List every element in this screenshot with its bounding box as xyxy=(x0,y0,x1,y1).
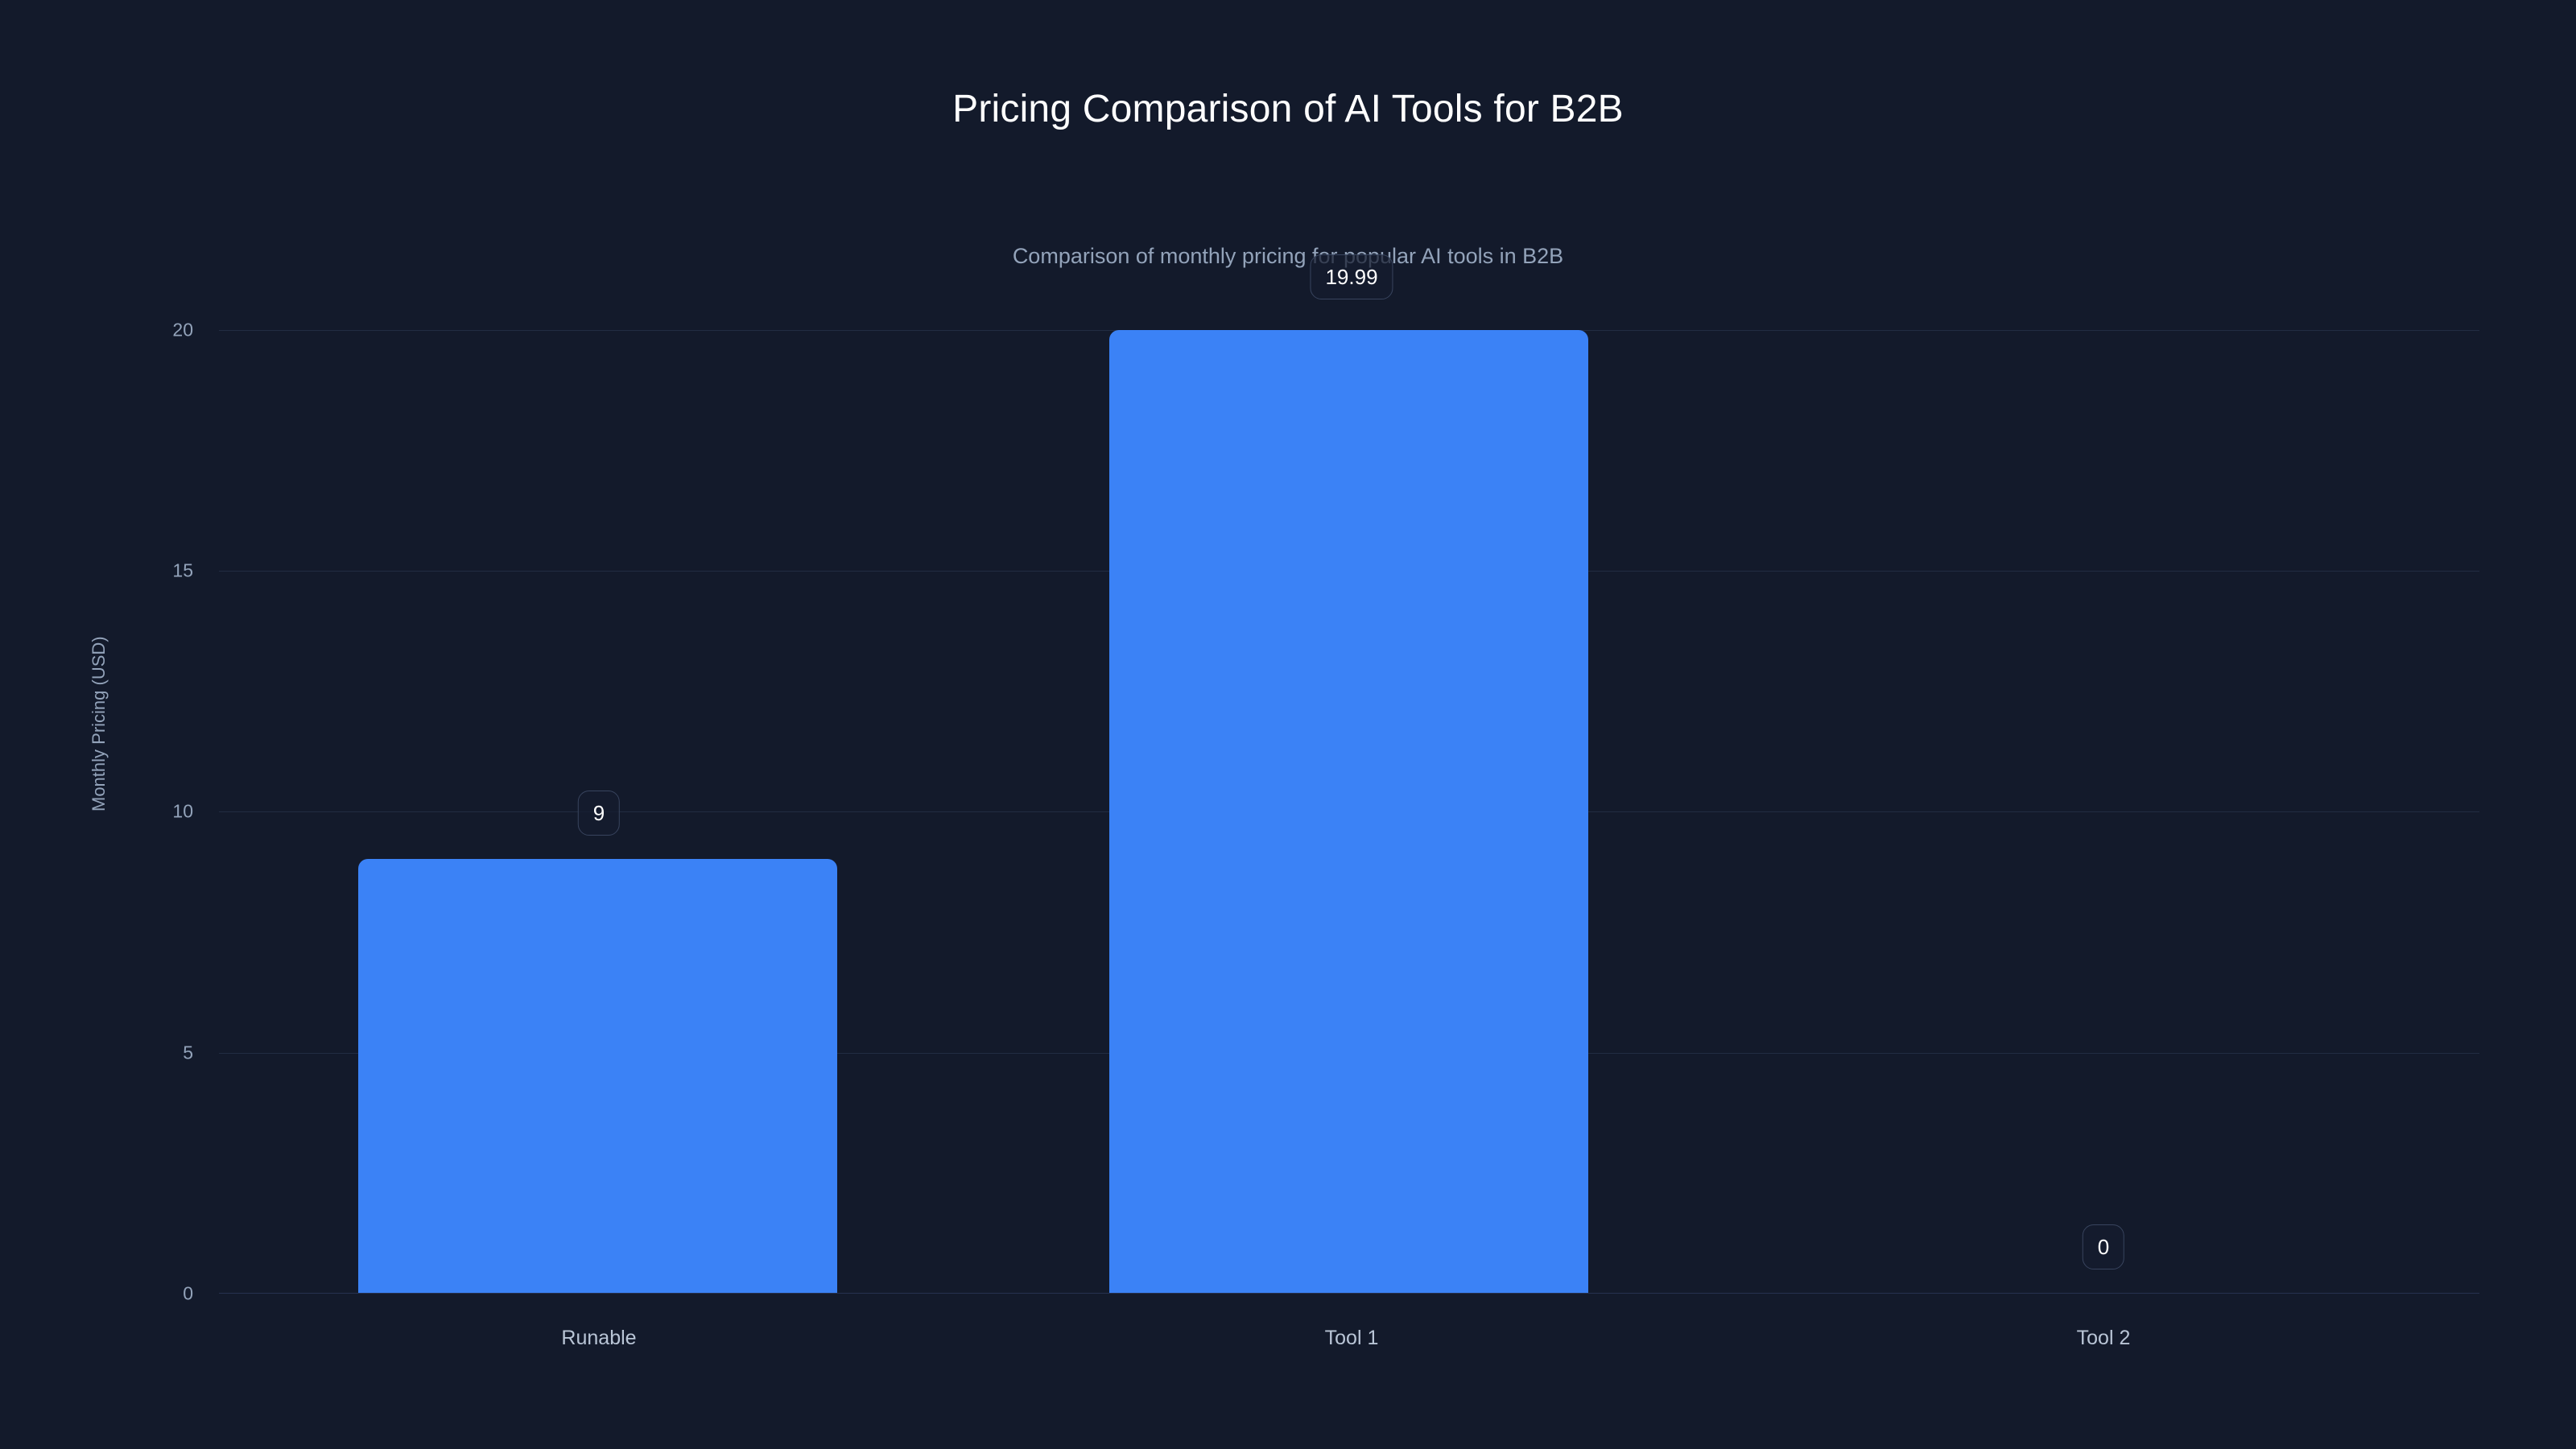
data-label-tool-2: 0 xyxy=(2083,1224,2124,1269)
chart-subtitle: Comparison of monthly pricing for popula… xyxy=(0,243,2576,269)
y-tick-label-20: 20 xyxy=(97,320,193,341)
page-title: Pricing Comparison of AI Tools for B2B xyxy=(0,89,2576,131)
x-tick-label-runable: Runable xyxy=(561,1327,636,1350)
bar-runable[interactable] xyxy=(358,859,837,1293)
x-tick-label-tool-1: Tool 1 xyxy=(1325,1327,1379,1350)
data-label-tool-1: 19.99 xyxy=(1310,254,1393,299)
y-tick-label-15: 15 xyxy=(97,560,193,582)
bar-tool-1[interactable] xyxy=(1109,330,1588,1293)
y-tick-label-5: 5 xyxy=(97,1042,193,1064)
gridline-0 xyxy=(219,1293,2479,1294)
y-tick-label-0: 0 xyxy=(97,1283,193,1305)
y-tick-label-10: 10 xyxy=(97,801,193,823)
plot-area xyxy=(219,330,2479,1294)
x-tick-label-tool-2: Tool 2 xyxy=(2077,1327,2131,1350)
data-label-runable: 9 xyxy=(578,791,620,836)
y-axis-title: Monthly Pricing (USD) xyxy=(89,636,109,811)
chart-canvas: Pricing Comparison of AI Tools for B2B C… xyxy=(0,0,2576,1449)
